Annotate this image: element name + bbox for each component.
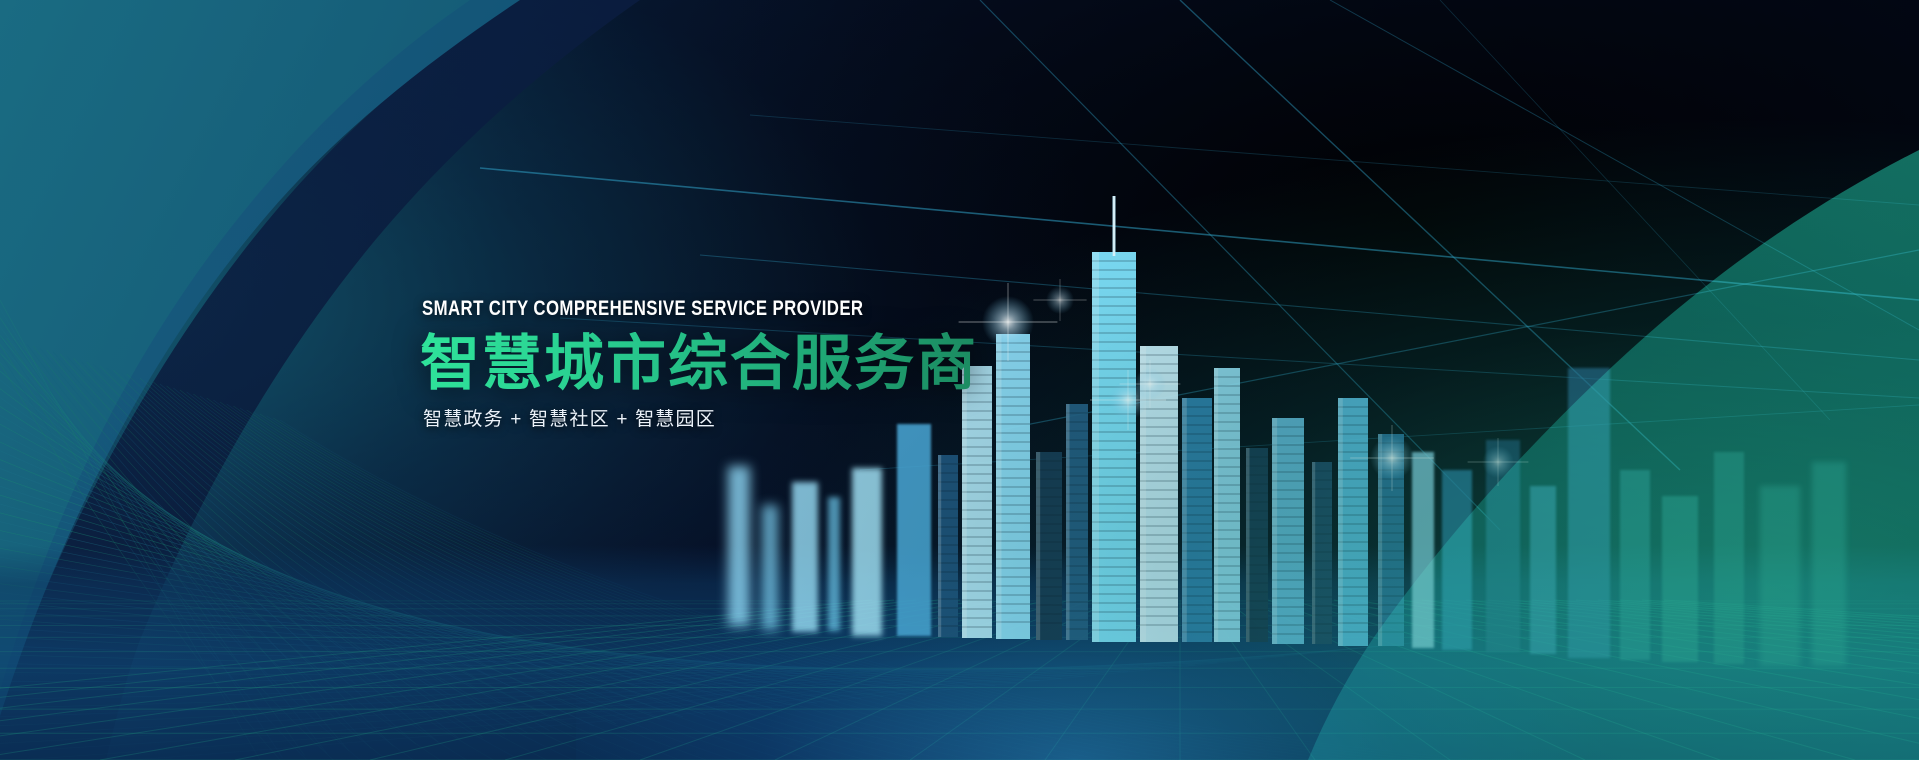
smart-city-banner: SMART CITY COMPREHENSIVE SERVICE PROVIDE… — [0, 0, 1919, 760]
headline-text-block: SMART CITY COMPREHENSIVE SERVICE PROVIDE… — [420, 298, 1180, 429]
page-title: 智慧城市综合服务商 — [420, 332, 1180, 396]
eyebrow-tagline: SMART CITY COMPREHENSIVE SERVICE PROVIDE… — [422, 298, 1028, 319]
subtitle-services: 智慧政务 + 智慧社区 + 智慧园区 — [423, 410, 1180, 429]
